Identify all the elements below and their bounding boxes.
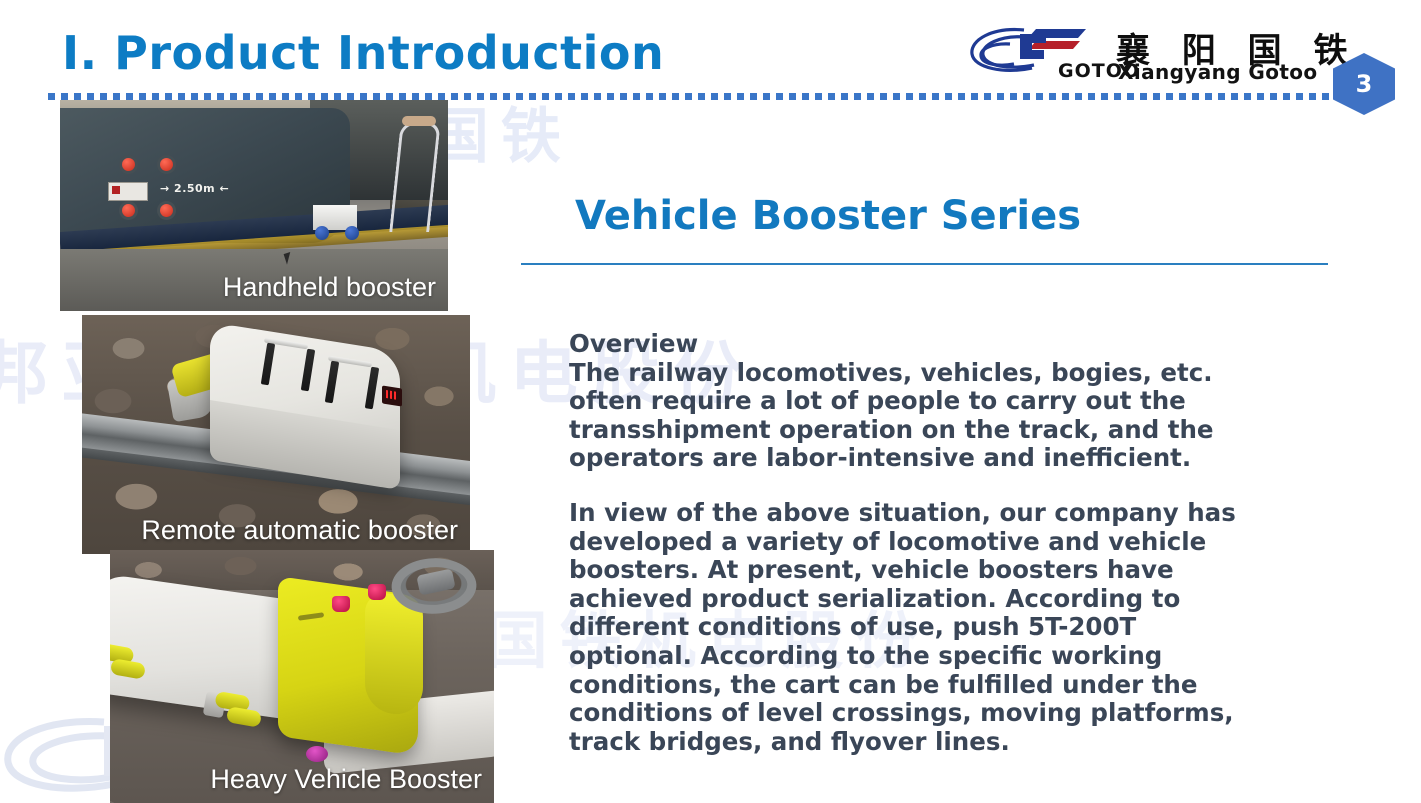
photo-handheld-booster[interactable]: → 2.50m ← Handheld booster xyxy=(60,100,448,311)
dimension-label: → 2.50m ← xyxy=(160,182,229,195)
led-display xyxy=(382,385,402,406)
operator-hand xyxy=(402,116,436,126)
equipment-plate xyxy=(108,182,148,201)
photo-caption: Remote automatic booster xyxy=(82,509,470,554)
paragraph-2: In view of the above situation, our comp… xyxy=(569,499,1245,756)
photo-caption: Heavy Vehicle Booster xyxy=(110,758,494,803)
section-heading: Vehicle Booster Series xyxy=(575,193,1081,239)
cart-wheel xyxy=(345,226,359,240)
indicator-button xyxy=(160,204,173,217)
brand-logo: GOTOO 襄 阳 国 铁 Xiangyang Gotoo xyxy=(966,24,1282,82)
page-title: Ⅰ. Product Introduction xyxy=(62,26,664,80)
indicator-button xyxy=(160,158,173,171)
overview-label: Overview xyxy=(569,330,1245,359)
photo-heavy-vehicle-booster[interactable]: Heavy Vehicle Booster xyxy=(110,550,494,803)
photo-remote-automatic-booster[interactable]: Remote automatic booster xyxy=(82,315,470,554)
indicator-button xyxy=(122,204,135,217)
brand-english-name: Xiangyang Gotoo xyxy=(1118,60,1318,84)
cart-wheel xyxy=(315,226,329,240)
paragraph-1-text: The railway locomotives, vehicles, bogie… xyxy=(569,358,1214,473)
emergency-stop-button xyxy=(368,584,386,600)
section-heading-underline xyxy=(521,263,1328,265)
indicator-button xyxy=(122,158,135,171)
header-dotted-divider xyxy=(48,93,1338,100)
photo-caption: Handheld booster xyxy=(60,266,448,311)
overview-paragraph: OverviewThe railway locomotives, vehicle… xyxy=(569,330,1245,473)
emergency-stop-button xyxy=(332,596,350,612)
slide-canvas: 邦亚明 国铁 邦亚明 国铁机电股份 邦亚明 国铁机电股份 GOTOO Ⅰ. Pr… xyxy=(0,0,1421,803)
body-copy: OverviewThe railway locomotives, vehicle… xyxy=(569,330,1245,756)
